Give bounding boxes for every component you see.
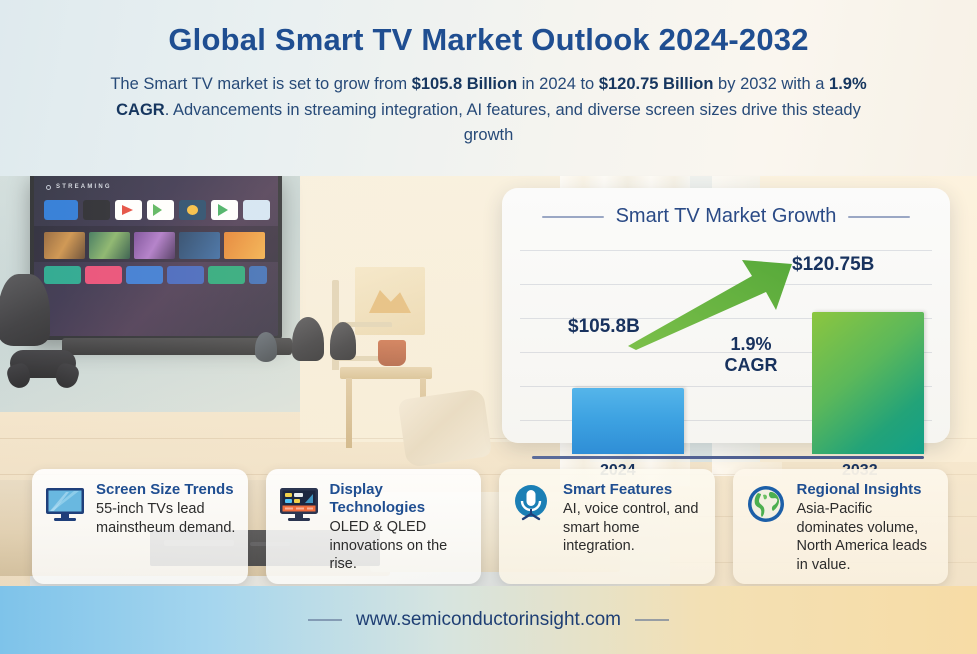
app-tile <box>179 200 206 220</box>
card-text: OLED & QLED innovations on the rise. <box>330 518 472 574</box>
footer-rule-right <box>635 619 669 621</box>
bar-2024 <box>572 388 684 454</box>
card-body: Screen Size Trends 55-inch TVs lead main… <box>96 481 238 574</box>
shortcut-tile <box>85 266 122 284</box>
insight-cards: Screen Size Trends 55-inch TVs lead main… <box>32 469 948 584</box>
app-tile <box>211 200 238 220</box>
shortcut-tile <box>167 266 204 284</box>
app-tile <box>44 200 78 220</box>
shortcut-tile <box>126 266 163 284</box>
tv-ui-logo-icon <box>46 185 51 190</box>
card-title: Regional Insights <box>797 481 939 499</box>
bar-2032 <box>812 312 924 454</box>
footer-url[interactable]: www.semiconductorinsight.com <box>356 609 621 631</box>
title-rule-right <box>848 216 910 218</box>
display-panel-icon <box>278 483 320 525</box>
microphone-icon <box>511 483 553 525</box>
content-thumbnail <box>44 232 85 259</box>
chart-title-row: Smart TV Market Growth <box>502 188 950 228</box>
speaker-small <box>255 332 277 362</box>
card-text: 55-inch TVs lead mainstheum demand. <box>96 500 238 537</box>
plant-pot <box>378 340 406 366</box>
infographic-root: STREAMING <box>0 0 977 654</box>
card-display-technologies[interactable]: Display Technologies OLED & QLED innovat… <box>266 469 482 584</box>
shortcut-tile <box>249 266 267 284</box>
card-screen-size-trends[interactable]: Screen Size Trends 55-inch TVs lead main… <box>32 469 248 584</box>
subtitle-highlight: $120.75 Billion <box>599 75 714 93</box>
tv-app-row <box>44 200 270 220</box>
shortcut-tile <box>44 266 81 284</box>
card-body: Display Technologies OLED & QLED innovat… <box>330 481 472 574</box>
card-title: Display Technologies <box>330 481 472 517</box>
smart-tv: STREAMING <box>30 170 282 340</box>
page-title: Global Smart TV Market Outlook 2024-2032 <box>0 22 977 58</box>
content-thumbnail <box>89 232 130 259</box>
side-table <box>340 367 432 379</box>
card-regional-insights[interactable]: Regional Insights Asia-Pacific dominates… <box>733 469 949 584</box>
card-body: Smart Features AI, voice control, and sm… <box>563 481 705 574</box>
content-thumbnail <box>134 232 175 259</box>
footer-rule-left <box>308 619 342 621</box>
chart-title: Smart TV Market Growth <box>616 205 837 228</box>
speaker-left <box>0 274 50 346</box>
app-tile <box>83 200 110 220</box>
tv-screen-label: STREAMING <box>56 184 112 190</box>
shortcut-tile <box>208 266 245 284</box>
speaker-right <box>292 317 324 361</box>
floor-pillow <box>398 388 493 467</box>
footer: www.semiconductorinsight.com <box>0 586 977 654</box>
title-rule-left <box>542 216 604 218</box>
card-smart-features[interactable]: Smart Features AI, voice control, and sm… <box>499 469 715 584</box>
tv-monitor-icon <box>44 483 86 525</box>
card-text: AI, voice control, and smart home integr… <box>563 500 705 556</box>
subtitle-text: . Advancements in streaming integration,… <box>165 101 861 145</box>
x-axis-line <box>532 456 924 459</box>
tv-screen: STREAMING <box>34 174 278 336</box>
card-title: Screen Size Trends <box>96 481 238 499</box>
app-tile <box>147 200 174 220</box>
globe-icon <box>745 483 787 525</box>
tv-tile-row <box>44 266 267 284</box>
content-thumbnail <box>179 232 220 259</box>
subtitle-text: in 2024 to <box>517 75 599 93</box>
bar-chart-plot: $105.8B $120.75B 1.9% CAGR 2024 2032 <box>520 246 932 398</box>
tv-content-row <box>44 232 265 259</box>
game-controller <box>10 350 76 378</box>
card-text: Asia-Pacific dominates volume, North Ame… <box>797 500 939 574</box>
content-thumbnail <box>224 232 265 259</box>
card-title: Smart Features <box>563 481 705 499</box>
header: Global Smart TV Market Outlook 2024-2032… <box>0 0 977 176</box>
chart-panel: Smart TV Market Growth $105.8B <box>502 188 950 443</box>
subtitle-text: The Smart TV market is set to grow from <box>110 75 411 93</box>
subtitle-text: by 2032 with a <box>713 75 829 93</box>
card-body: Regional Insights Asia-Pacific dominates… <box>797 481 939 574</box>
subtitle-highlight: $105.8 Billion <box>412 75 517 93</box>
app-tile <box>115 200 142 220</box>
speaker-right-2 <box>330 322 356 360</box>
app-tile <box>243 200 270 220</box>
subtitle: The Smart TV market is set to grow from … <box>0 72 977 149</box>
